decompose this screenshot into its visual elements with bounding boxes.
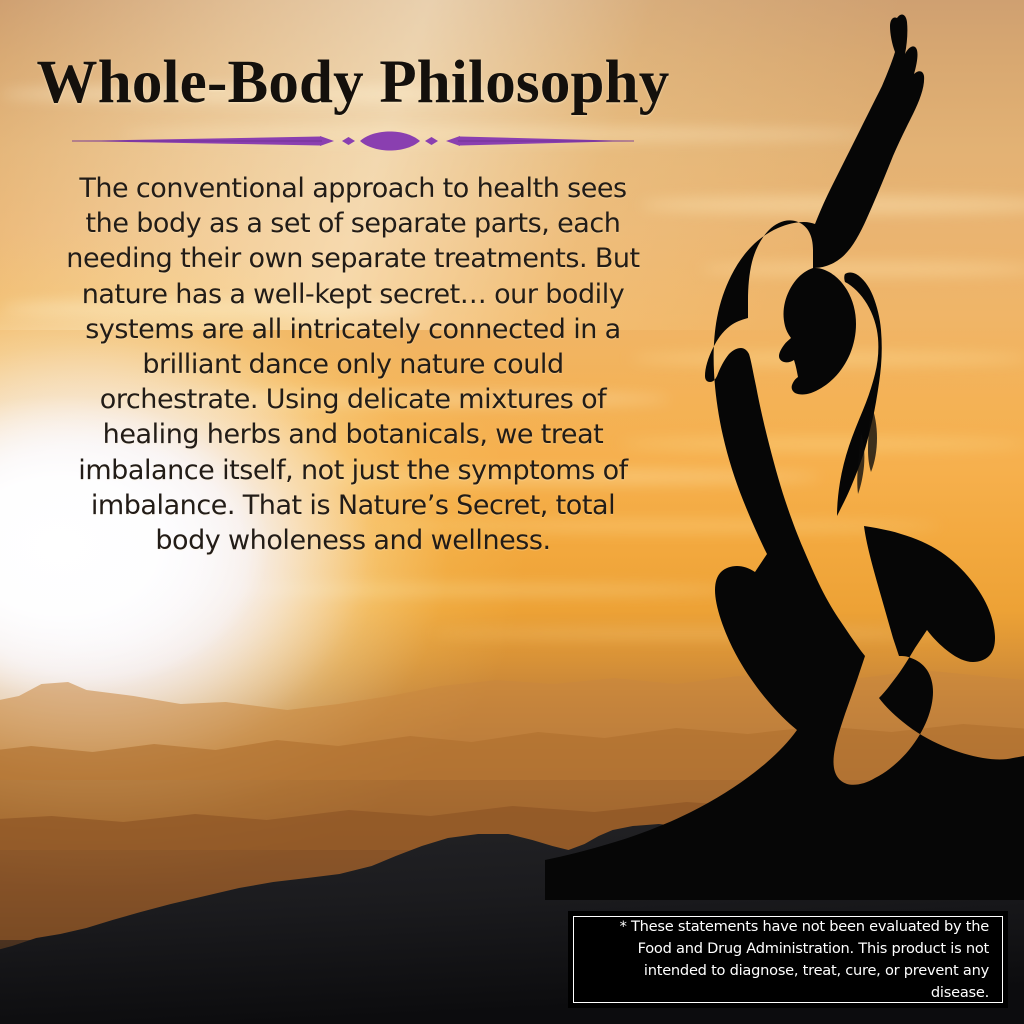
- mountain-ridge-mid: [0, 700, 1024, 850]
- body-copy: The conventional approach to health sees…: [0, 155, 706, 558]
- purple-ornamental-divider-icon: [72, 127, 634, 155]
- cloud-streak: [180, 584, 740, 596]
- disclaimer-box: * These statements have not been evaluat…: [568, 911, 1008, 1008]
- page-title: Whole-Body Philosophy: [0, 0, 706, 113]
- mountain-ridge-far: [0, 660, 1024, 780]
- content-column: Whole-Body Philosophy T: [0, 0, 706, 558]
- cloud-streak: [430, 628, 950, 639]
- cloud-streak: [700, 262, 1024, 276]
- poster-canvas: Whole-Body Philosophy T: [0, 0, 1024, 1024]
- disclaimer-inner-border: * These statements have not been evaluat…: [573, 916, 1003, 1003]
- disclaimer-text: * These statements have not been evaluat…: [587, 916, 989, 1004]
